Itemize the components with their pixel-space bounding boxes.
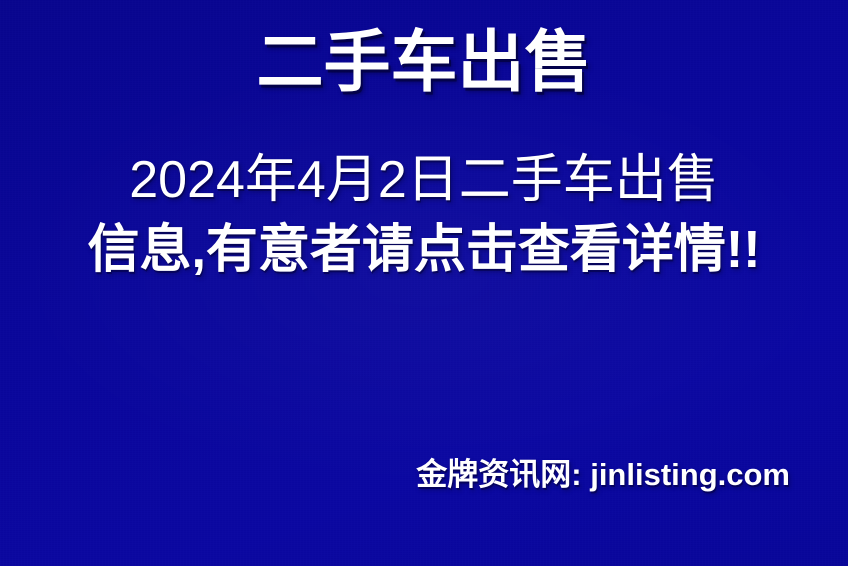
poster-title: 二手车出售	[0, 26, 848, 100]
poster-body-line-2: 信息,有意者请点击查看详情!!	[0, 222, 848, 279]
promo-poster: 二手车出售 2024年4月2日二手车出售 信息,有意者请点击查看详情!! 金牌资…	[0, 0, 848, 566]
poster-body-line-1: 2024年4月2日二手车出售	[0, 152, 848, 209]
poster-footer-attribution: 金牌资讯网: jinlisting.com	[0, 458, 790, 492]
